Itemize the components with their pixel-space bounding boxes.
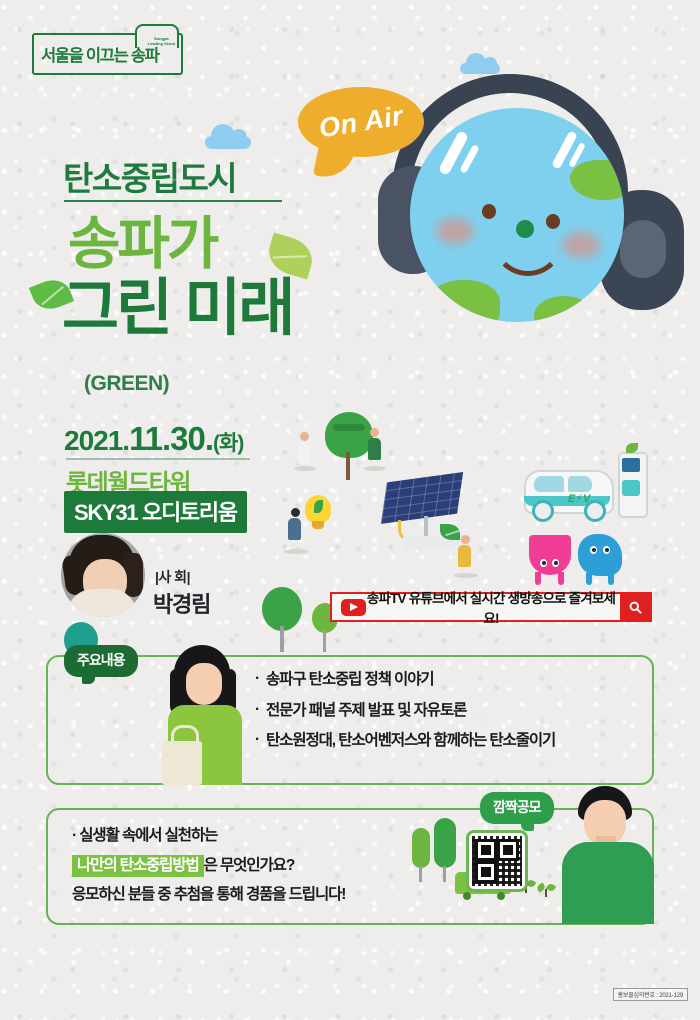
person-shadow: [294, 466, 316, 471]
host-role-label: |사 회|: [155, 567, 190, 587]
mascot-blue: [578, 534, 622, 576]
main-content-badge: 주요내용: [64, 645, 138, 677]
woman-illustration: [160, 645, 252, 785]
mascot-eye: [590, 546, 597, 554]
sprout-icon: [540, 884, 552, 896]
bubble-tail: [82, 672, 95, 684]
mascot-leg: [608, 573, 614, 585]
main-content-badge-label: 주요내용: [77, 652, 125, 668]
person-body: [458, 545, 471, 567]
tree-band: [333, 424, 365, 431]
eye-icon: [546, 214, 560, 229]
event-date-year: 2021.: [64, 425, 129, 456]
car-wheel: [532, 500, 554, 522]
date-divider: [66, 458, 250, 460]
person-body: [288, 518, 301, 540]
poster-title-english: (GREEN): [84, 372, 169, 396]
venue-line2: SKY31 오디토리움: [64, 491, 247, 533]
list-item: 송파구 탄소중립 정책 이야기: [255, 672, 645, 688]
event-date-day: 30.: [170, 420, 213, 457]
woman-face: [186, 663, 222, 705]
host-name: 박경림: [153, 587, 210, 619]
tote-bag-icon: [162, 741, 202, 785]
logo-eng-line2: Leading Seoul: [148, 41, 175, 46]
tree-icon: [412, 828, 430, 868]
search-icon[interactable]: [620, 594, 650, 620]
cheek-blush: [436, 218, 474, 244]
mascot-leg: [586, 573, 592, 585]
continent-shape: [534, 296, 594, 322]
poster-title-line1: 송파가: [68, 216, 216, 273]
qr-code[interactable]: [466, 830, 528, 892]
mascot-leg: [558, 572, 564, 585]
contest-highlight: 나만의 탄소중립방법: [72, 855, 204, 877]
tree-trunk: [346, 452, 350, 480]
car-wheel: [463, 892, 471, 900]
contest-badge-label: 깜짝공모: [493, 799, 541, 815]
logo-songpa: 서울을 이끄는 송파 Songpa Leading Seoul: [32, 25, 187, 77]
tree-icon: [434, 818, 456, 868]
man-illustration: [560, 786, 656, 924]
contest-badge: 깜짝공모: [480, 792, 554, 824]
cloud-icon: [205, 136, 251, 149]
leaf-icon: [264, 232, 317, 279]
person-shadow: [454, 573, 478, 578]
eye-icon: [482, 204, 496, 219]
person-head: [370, 428, 379, 437]
poster-subtitle: 탄소중립도시: [63, 152, 236, 200]
car-wheel: [497, 892, 505, 900]
continent-shape: [426, 280, 500, 322]
tree-trunk: [323, 630, 326, 652]
cheek-blush: [562, 232, 600, 258]
qr-finder: [475, 839, 497, 861]
person-body: [298, 442, 311, 464]
broadcast-message: 송파TV 유튜브에서 실시간 생방송으로 즐겨보세요!: [366, 587, 620, 627]
qr-finder: [497, 839, 519, 861]
event-date: 2021.11.30.(화): [64, 420, 243, 458]
person-shadow: [364, 466, 386, 471]
man-shirt: [562, 842, 654, 924]
person-shadow: [284, 549, 308, 554]
poster-title-line2: 그린 미래: [62, 278, 292, 340]
globe-highlight: [459, 144, 479, 174]
car-window: [568, 476, 592, 492]
mascot-eye: [552, 559, 559, 567]
poster-canvas: 서울을 이끄는 송파 Songpa Leading Seoul: [0, 0, 700, 1020]
tree-trunk: [443, 866, 446, 882]
title-divider: [64, 200, 282, 202]
avatar-scarf: [67, 589, 137, 617]
qr-finder: [475, 861, 497, 883]
earth-globe-icon: [410, 108, 624, 322]
tree-trunk: [419, 866, 422, 882]
contest-line2: 나만의 탄소중립방법은 무엇인가요?: [72, 858, 452, 874]
contest-line1: · 실생활 속에서 실천하는: [72, 828, 452, 844]
youtube-broadcast-banner[interactable]: 송파TV 유튜브에서 실시간 생방송으로 즐겨보세요!: [330, 592, 652, 622]
contest-line2-rest: 은 무엇인가요?: [204, 857, 295, 874]
car-wheel: [584, 500, 606, 522]
on-air-bubble: On Air: [298, 87, 424, 157]
youtube-icon: [341, 599, 366, 616]
continent-shape: [570, 160, 624, 200]
list-item: 전문가 패널 주제 발표 및 자유토론: [255, 703, 645, 719]
list-item: 탄소원정대, 탄소어벤저스와 함께하는 탄소줄이기: [255, 733, 645, 749]
person-body: [368, 438, 381, 460]
person-head: [300, 432, 309, 441]
event-date-month: 11.: [129, 420, 170, 457]
mascot-eye: [540, 559, 547, 567]
main-content-list: 송파구 탄소중립 정책 이야기 전문가 패널 주제 발표 및 자유토론 탄소원정…: [255, 672, 645, 764]
person-head: [291, 508, 300, 517]
contest-text: · 실생활 속에서 실천하는 나만의 탄소중립방법은 무엇인가요? 응모하신 분…: [72, 828, 452, 917]
tree-trunk: [280, 626, 284, 652]
host-avatar: [61, 533, 145, 617]
bulb-base: [312, 521, 324, 529]
bubble-tail: [521, 819, 534, 831]
footer: 주최/주관 송파구: [0, 950, 700, 996]
mascot-eye: [603, 546, 610, 554]
registration-number: 홍보물심의번호 : 2021-129: [613, 988, 688, 1001]
mascot-leg: [535, 572, 541, 585]
mascot-pink: [529, 535, 571, 575]
charger-screen: [622, 458, 640, 472]
contest-line3: 응모하신 분들 중 추첨을 통해 경품을 드립니다!: [72, 887, 452, 903]
solar-panel-icon: [381, 472, 463, 524]
event-date-weekday: (화): [213, 432, 243, 455]
person-head: [461, 535, 470, 544]
smile-icon: [492, 234, 564, 276]
logo-eng-text: Songpa Leading Seoul: [148, 36, 175, 46]
car-window: [534, 476, 564, 492]
charger-panel: [622, 480, 640, 496]
tree-icon: [262, 587, 302, 631]
